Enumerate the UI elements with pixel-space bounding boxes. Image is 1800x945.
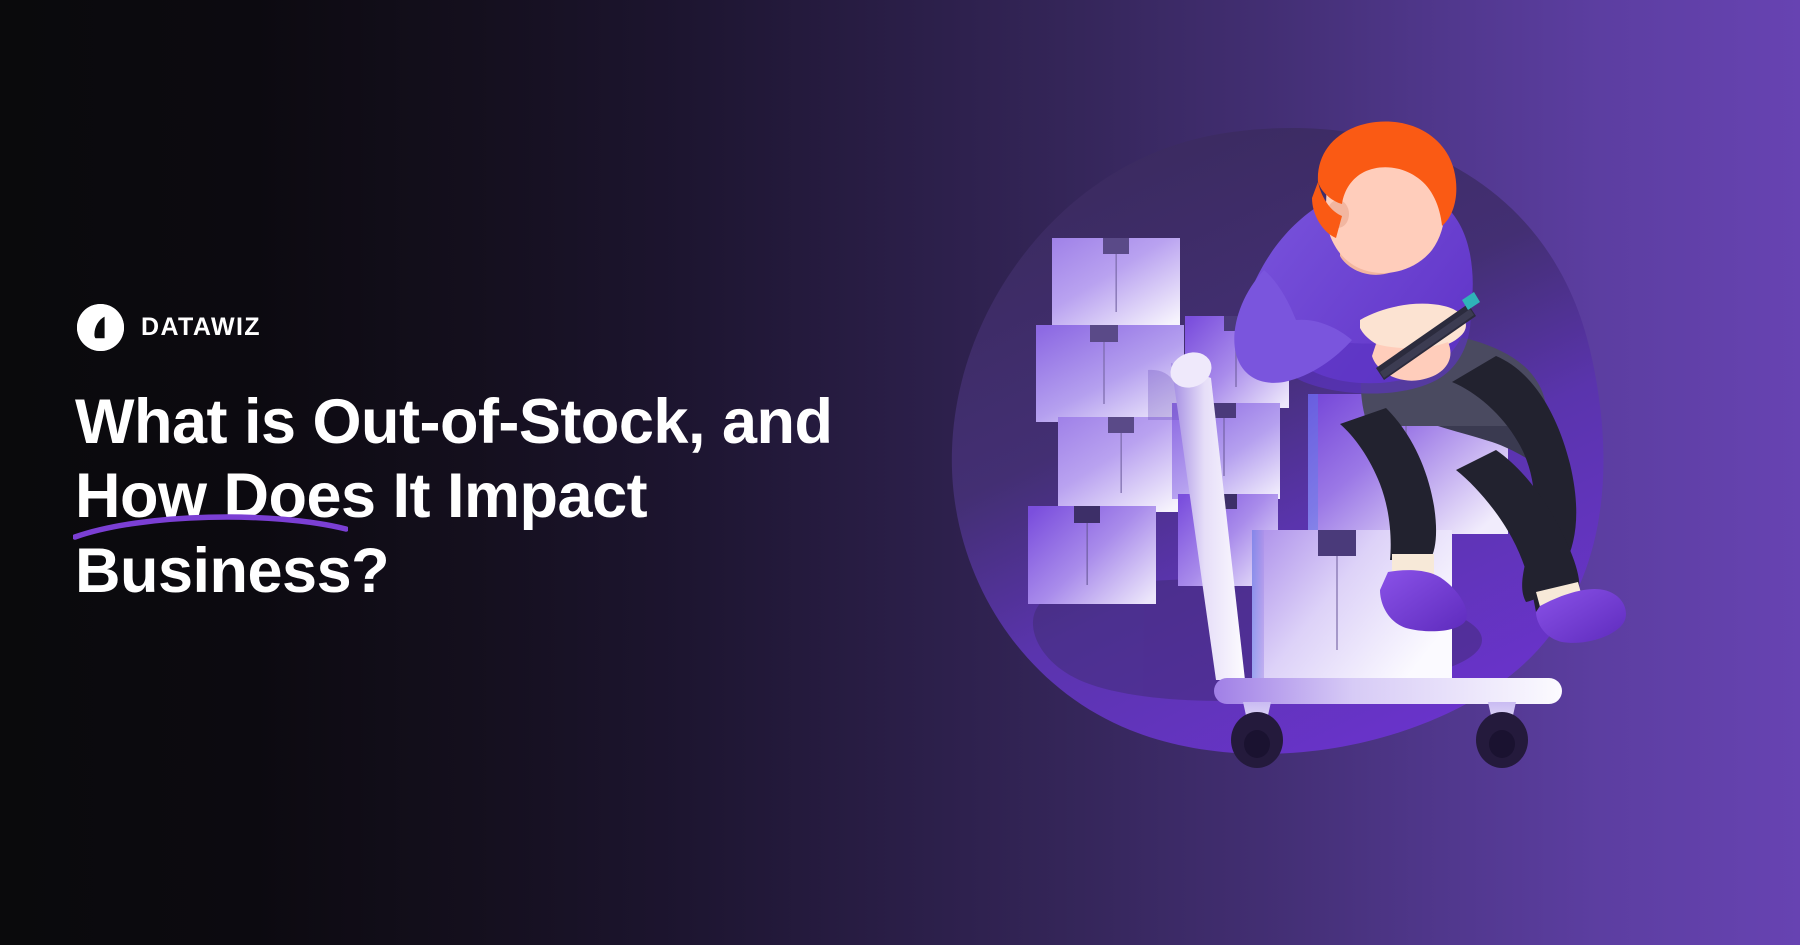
box xyxy=(1052,238,1180,330)
cart-wheel-hub xyxy=(1489,730,1515,758)
cart-wheel-hub xyxy=(1244,730,1270,758)
headline-line-3: Business? xyxy=(75,536,389,606)
cart-deck xyxy=(1214,678,1562,704)
hero-banner: DATAWIZ What is Out-of-Stock, and How Do… xyxy=(0,0,1800,945)
headline-line-3-wrapper: Business? xyxy=(75,534,895,608)
headline-line-1: What is Out-of-Stock, and xyxy=(75,385,895,459)
box xyxy=(1028,506,1156,604)
headline-line-2: How Does It Impact xyxy=(75,459,895,533)
box xyxy=(1058,417,1186,512)
brand-name-label: DATAWIZ xyxy=(141,313,261,342)
droplet-mark-icon xyxy=(77,304,124,351)
page-title: What is Out-of-Stock, and How Does It Im… xyxy=(75,385,895,608)
warehouse-boxes-and-person-illustration xyxy=(940,120,1620,800)
brand-logo[interactable]: DATAWIZ xyxy=(77,304,261,351)
